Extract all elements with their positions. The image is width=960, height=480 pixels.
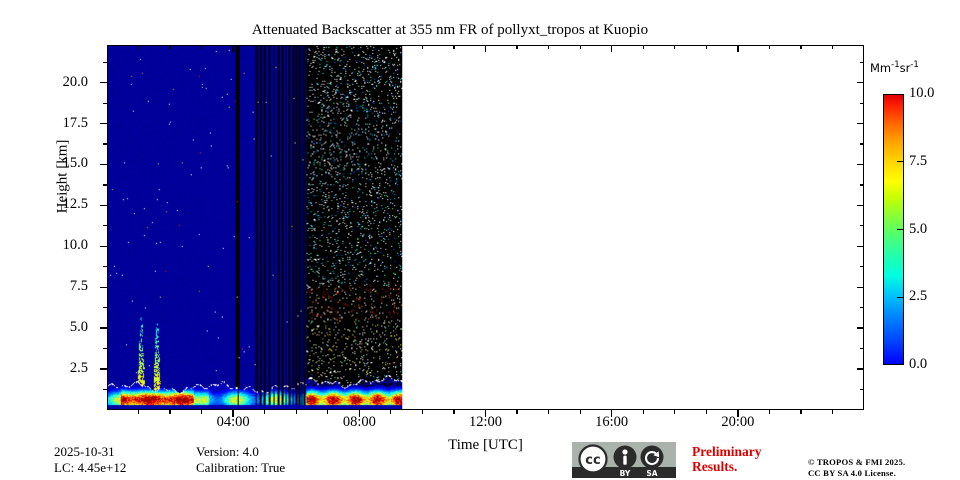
x-tick-minor (453, 410, 454, 414)
copyright-line-1: © TROPOS & FMI 2025. (808, 457, 905, 468)
y-tick-minor (103, 143, 107, 144)
x-tick-minor (643, 45, 644, 49)
y-tick-minor (103, 266, 107, 267)
plot-area (107, 45, 864, 410)
x-tick-minor (548, 410, 549, 414)
colorbar-tick-label: 7.5 (909, 154, 927, 169)
x-tick-minor (832, 410, 833, 414)
y-tick-minor (103, 62, 107, 63)
y-tick-mark (857, 164, 864, 165)
x-tick-minor (643, 410, 644, 414)
x-tick-minor (800, 45, 801, 49)
colorbar-tick-mark (897, 297, 904, 298)
x-tick-mark (611, 45, 612, 52)
footer-date: 2025-10-31 (54, 444, 115, 460)
x-tick-mark (485, 45, 486, 52)
copyright-line-2: CC BY SA 4.0 License. (808, 468, 905, 479)
y-tick-label: 20.0 (28, 75, 88, 90)
preliminary-results-notice: Preliminary Results. (692, 444, 802, 474)
x-tick-minor (516, 45, 517, 49)
y-tick-mark (100, 368, 107, 369)
x-tick-minor (453, 45, 454, 49)
x-tick-minor (264, 45, 265, 49)
colorbar-tick-label: 10.0 (909, 86, 934, 101)
y-tick-label: 7.5 (28, 279, 88, 294)
y-tick-label: 15.0 (28, 156, 88, 171)
y-tick-minor (103, 103, 107, 104)
y-tick-minor (860, 103, 864, 104)
y-tick-label: 12.5 (28, 197, 88, 212)
y-tick-minor (103, 307, 107, 308)
y-tick-minor (860, 307, 864, 308)
colorbar-unit-exp2: -1 (910, 60, 918, 70)
y-tick-mark (857, 327, 864, 328)
y-tick-mark (100, 246, 107, 247)
colorbar-tick-label: 2.5 (909, 289, 927, 304)
x-tick-minor (390, 410, 391, 414)
x-tick-minor (264, 410, 265, 414)
y-tick-mark (100, 205, 107, 206)
colorbar-unit-label: Mm-1sr-1 (870, 60, 919, 75)
y-tick-minor (103, 389, 107, 390)
y-tick-minor (103, 225, 107, 226)
x-tick-minor (580, 45, 581, 49)
cc-by-sa-license-badge[interactable]: cc BY SA (572, 442, 676, 478)
x-tick-minor (800, 410, 801, 414)
y-tick-mark (857, 205, 864, 206)
y-tick-minor (103, 348, 107, 349)
colorbar-unit-exp1: -1 (891, 60, 899, 70)
x-tick-minor (201, 45, 202, 49)
colorbar-unit-mid: sr (900, 61, 911, 75)
x-tick-minor (516, 410, 517, 414)
cc-by-label: BY (620, 469, 631, 478)
cc-sa-label: SA (646, 469, 657, 478)
colorbar-tick-label: 5.0 (909, 222, 927, 237)
x-tick-minor (327, 410, 328, 414)
y-tick-mark (857, 246, 864, 247)
y-tick-label: 10.0 (28, 238, 88, 253)
y-tick-label: 17.5 (28, 116, 88, 131)
y-tick-minor (860, 225, 864, 226)
colorbar-unit-base: Mm (870, 61, 891, 75)
copyright-notice: © TROPOS & FMI 2025. CC BY SA 4.0 Licens… (808, 457, 905, 479)
x-tick-minor (422, 410, 423, 414)
y-tick-mark (100, 123, 107, 124)
colorbar-tick-mark (897, 161, 904, 162)
footer-lidar-constant: LC: 4.45e+12 (54, 460, 126, 476)
x-tick-mark (611, 410, 612, 417)
y-tick-minor (860, 184, 864, 185)
x-tick-mark (485, 410, 486, 417)
y-tick-mark (857, 82, 864, 83)
backscatter-heatmap (108, 46, 863, 409)
preliminary-line-1: Preliminary (692, 444, 802, 459)
colorbar-tick-mark (897, 229, 904, 230)
y-tick-minor (860, 389, 864, 390)
preliminary-line-2: Results. (692, 459, 802, 474)
x-tick-mark (737, 410, 738, 417)
x-tick-mark (232, 45, 233, 52)
y-tick-minor (860, 348, 864, 349)
x-tick-minor (138, 410, 139, 414)
colorbar-tick-label: 0.0 (909, 357, 927, 372)
x-tick-minor (327, 45, 328, 49)
y-tick-minor (860, 143, 864, 144)
x-tick-minor (422, 45, 423, 49)
x-tick-minor (769, 45, 770, 49)
x-tick-minor (769, 410, 770, 414)
x-tick-mark (737, 45, 738, 52)
y-tick-mark (100, 287, 107, 288)
y-tick-label: 5.0 (28, 320, 88, 335)
x-tick-minor (390, 45, 391, 49)
y-tick-minor (103, 184, 107, 185)
y-tick-minor (860, 266, 864, 267)
y-tick-mark (100, 82, 107, 83)
x-tick-minor (201, 410, 202, 414)
y-tick-mark (100, 327, 107, 328)
x-tick-minor (548, 45, 549, 49)
y-tick-mark (100, 164, 107, 165)
x-tick-minor (138, 45, 139, 49)
x-tick-minor (296, 410, 297, 414)
y-tick-mark (857, 123, 864, 124)
x-tick-mark (359, 45, 360, 52)
x-tick-minor (674, 45, 675, 49)
x-tick-minor (580, 410, 581, 414)
y-tick-mark (857, 287, 864, 288)
footer-version: Version: 4.0 (196, 444, 259, 460)
y-tick-minor (860, 62, 864, 63)
x-tick-minor (832, 45, 833, 49)
x-tick-mark (232, 410, 233, 417)
x-tick-minor (706, 410, 707, 414)
page-title: Attenuated Backscatter at 355 nm FR of p… (0, 22, 900, 39)
x-tick-mark (359, 410, 360, 417)
y-tick-mark (857, 368, 864, 369)
x-tick-minor (706, 45, 707, 49)
y-tick-label: 2.5 (28, 361, 88, 376)
cc-glyph: cc (585, 453, 600, 468)
footer-calibration: Calibration: True (196, 460, 285, 476)
x-tick-minor (169, 45, 170, 49)
x-tick-minor (169, 410, 170, 414)
x-tick-minor (674, 410, 675, 414)
x-tick-minor (296, 45, 297, 49)
